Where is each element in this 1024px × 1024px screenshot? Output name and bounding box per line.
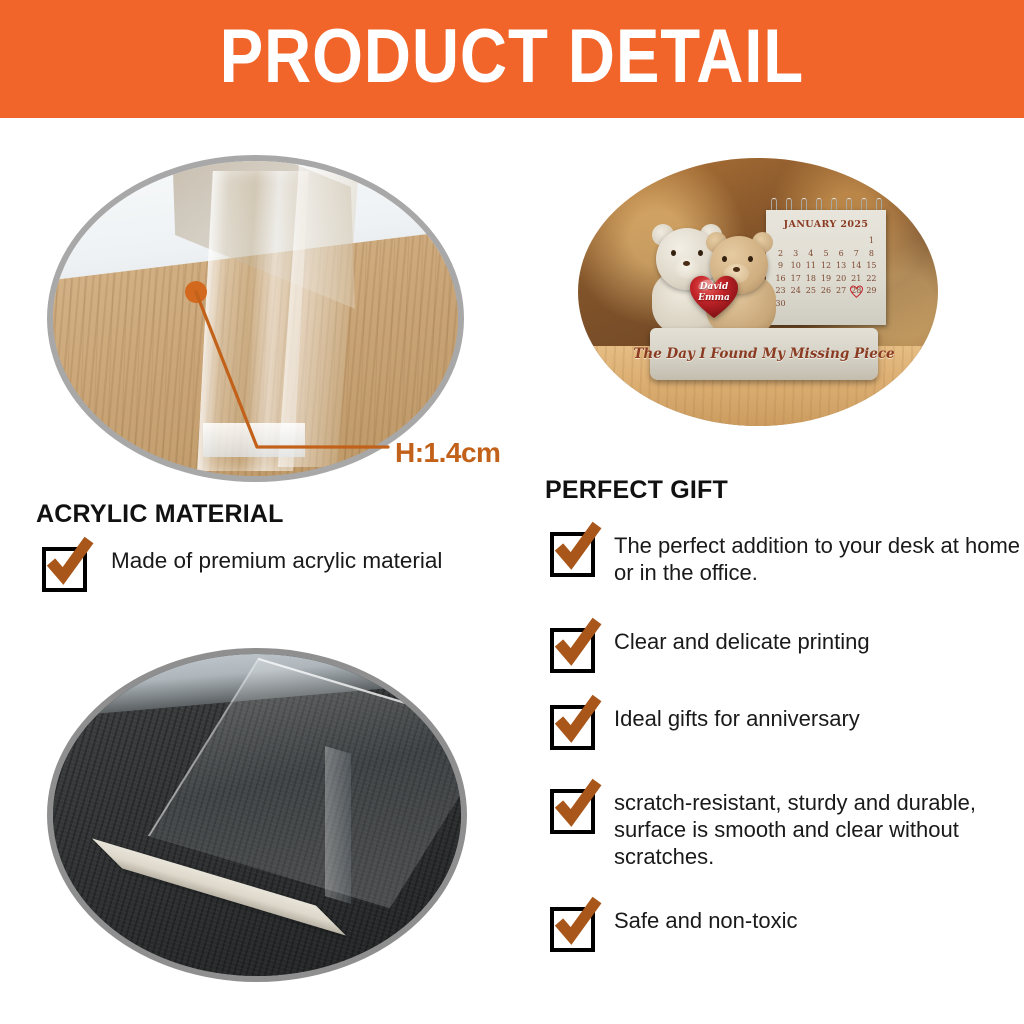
acrylic-slab-base-edge (203, 423, 305, 457)
checkmark-icon (552, 693, 604, 745)
calendar-date-empty (788, 298, 803, 309)
acrylic-block-right-face (325, 746, 351, 904)
calendar-date-2: 2 (773, 248, 788, 259)
photo-acrylic-edge-view (47, 155, 464, 482)
list-item-gift-2: Ideal gifts for anniversary (550, 705, 860, 750)
checkmark-icon (552, 616, 604, 668)
calendar-date-26: 26 (818, 285, 833, 296)
checkbox-icon[interactable] (550, 532, 595, 577)
list-item-text: scratch-resistant, sturdy and durable, s… (614, 789, 1024, 870)
calendar-date-27: 27 (834, 285, 849, 296)
dimension-label: H:1.4cm (395, 437, 500, 469)
checkbox-icon[interactable] (550, 907, 595, 952)
product-base-plaque: The Day I Found My Missing Piece (650, 328, 878, 380)
calendar-date-1: 1 (864, 235, 879, 246)
calendar-date-empty (803, 235, 818, 246)
calendar-date-9: 9 (773, 260, 788, 271)
calendar-date-empty (864, 298, 879, 309)
calendar-date-13: 13 (834, 260, 849, 271)
calendar-date-empty (788, 235, 803, 246)
calendar-date-7: 7 (849, 248, 864, 259)
bear-brown-eye-right (748, 256, 753, 262)
calendar-date-empty (834, 235, 849, 246)
checkbox-icon[interactable] (42, 547, 87, 592)
calendar-date-grid: 1234567891011121314151617181920212223242… (773, 235, 879, 309)
calendar-date-12: 12 (818, 260, 833, 271)
bear-white-nose (683, 261, 690, 266)
calendar-date-10: 10 (788, 260, 803, 271)
heart-personalized-names: David Emma (686, 282, 742, 304)
list-item-gift-1: Clear and delicate printing (550, 628, 870, 673)
calendar-date-empty (818, 235, 833, 246)
checkbox-icon[interactable] (550, 628, 595, 673)
photo-acrylic-block-view (47, 648, 467, 982)
list-item-acrylic-0: Made of premium acrylic material (42, 547, 442, 592)
calendar-date-29: 29 (864, 285, 879, 296)
calendar-date-5: 5 (818, 248, 833, 259)
list-item-text: The perfect addition to your desk at hom… (614, 532, 1024, 586)
page-title: PRODUCT DETAIL (220, 19, 805, 99)
heart-name-2: Emma (686, 293, 742, 304)
bear-white-eye-left (671, 250, 676, 256)
heart-name-1: David (686, 282, 742, 293)
checkmark-icon (552, 895, 604, 947)
calendar-date-20: 20 (834, 273, 849, 284)
list-item-text: Clear and delicate printing (614, 628, 870, 655)
plaque-message: The Day I Found My Missing Piece (633, 346, 894, 362)
calendar-date-18: 18 (803, 273, 818, 284)
calendar-month-title: JANUARY 2025 (766, 219, 886, 230)
section-heading-acrylic-material: ACRYLIC MATERIAL (36, 500, 284, 529)
list-item-gift-4: Safe and non-toxic (550, 907, 797, 952)
list-item-text: Safe and non-toxic (614, 907, 797, 934)
calendar-date-3: 3 (788, 248, 803, 259)
checkbox-icon[interactable] (550, 705, 595, 750)
calendar-date-empty (773, 235, 788, 246)
calendar-date-empty (818, 298, 833, 309)
calendar-date-empty (849, 298, 864, 309)
list-item-gift-3: scratch-resistant, sturdy and durable, s… (550, 789, 1024, 870)
photo-product-view: JANUARY 2025 123456789101112131415161718… (578, 158, 938, 426)
calendar-date-14: 14 (849, 260, 864, 271)
product-detail-infographic: PRODUCT DETAIL JANUARY 2025 (0, 0, 1024, 1024)
checkmark-icon (552, 777, 604, 829)
calendar-date-25: 25 (803, 285, 818, 296)
calendar-date-empty (849, 235, 864, 246)
checkmark-icon (552, 520, 604, 572)
calendar-date-17: 17 (788, 273, 803, 284)
checkbox-icon[interactable] (550, 789, 595, 834)
list-item-text: Ideal gifts for anniversary (614, 705, 860, 732)
checkmark-icon (44, 535, 96, 587)
bear-white-eye-right (698, 250, 703, 256)
calendar-date-8: 8 (864, 248, 879, 259)
calendar-date-6: 6 (834, 248, 849, 259)
calendar-date-empty (803, 298, 818, 309)
calendar-date-11: 11 (803, 260, 818, 271)
calendar-date-15: 15 (864, 260, 879, 271)
header-banner: PRODUCT DETAIL (0, 0, 1024, 118)
calendar-date-21: 21 (849, 273, 864, 284)
calendar-date-16: 16 (773, 273, 788, 284)
bear-brown-eye-left (722, 256, 727, 262)
calendar-date-empty (834, 298, 849, 309)
section-heading-perfect-gift: PERFECT GIFT (545, 476, 728, 505)
calendar-date-22: 22 (864, 273, 879, 284)
calendar-date-28: 28 (849, 285, 864, 296)
calendar-date-19: 19 (818, 273, 833, 284)
calendar-date-24: 24 (788, 285, 803, 296)
calendar-date-4: 4 (803, 248, 818, 259)
list-item-gift-0: The perfect addition to your desk at hom… (550, 532, 1024, 586)
desk-calendar: JANUARY 2025 123456789101112131415161718… (766, 210, 886, 325)
list-item-text: Made of premium acrylic material (111, 547, 442, 574)
